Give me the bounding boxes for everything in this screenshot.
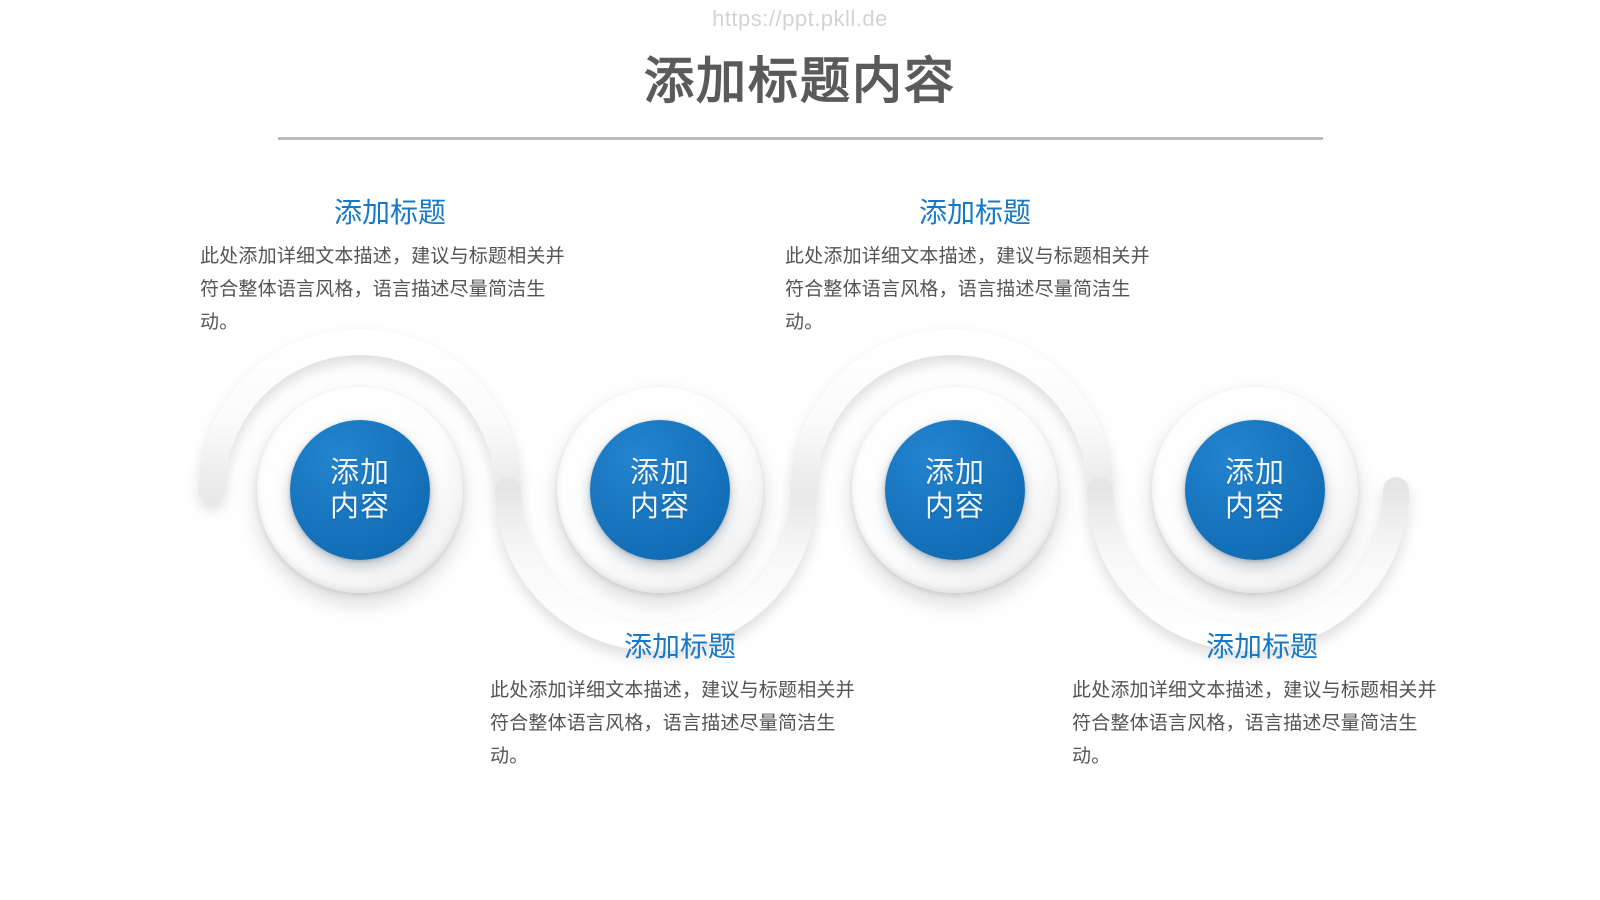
node-label-3-line2: 内容 bbox=[925, 490, 985, 524]
page-title: 添加标题内容 bbox=[0, 52, 1600, 110]
node-label-2-line2: 内容 bbox=[630, 490, 690, 524]
block-2-heading: 添加标题 bbox=[785, 196, 1165, 230]
node-disc-3[interactable]: 添加 内容 bbox=[885, 420, 1025, 560]
node-label-3-line1: 添加 bbox=[925, 456, 985, 490]
block-2-body: 此处添加详细文本描述，建议与标题相关并符合整体语言风格，语言描述尽量简洁生动。 bbox=[785, 240, 1165, 339]
text-block-3: 添加标题 此处添加详细文本描述，建议与标题相关并符合整体语言风格，语言描述尽量简… bbox=[490, 630, 870, 773]
node-circle-1[interactable]: 添加 内容 bbox=[257, 387, 463, 593]
block-1-heading: 添加标题 bbox=[200, 196, 580, 230]
watermark-url: https://ppt.pkll.de bbox=[0, 6, 1600, 32]
block-3-body: 此处添加详细文本描述，建议与标题相关并符合整体语言风格，语言描述尽量简洁生动。 bbox=[490, 674, 870, 773]
node-label-4-line2: 内容 bbox=[1225, 490, 1285, 524]
block-4-heading: 添加标题 bbox=[1072, 630, 1452, 664]
text-block-2: 添加标题 此处添加详细文本描述，建议与标题相关并符合整体语言风格，语言描述尽量简… bbox=[785, 196, 1165, 339]
node-label-2-line1: 添加 bbox=[630, 456, 690, 490]
title-divider bbox=[278, 137, 1323, 140]
node-circle-4[interactable]: 添加 内容 bbox=[1152, 387, 1358, 593]
node-disc-1[interactable]: 添加 内容 bbox=[290, 420, 430, 560]
block-1-body: 此处添加详细文本描述，建议与标题相关并符合整体语言风格，语言描述尽量简洁生动。 bbox=[200, 240, 580, 339]
block-3-heading: 添加标题 bbox=[490, 630, 870, 664]
text-block-4: 添加标题 此处添加详细文本描述，建议与标题相关并符合整体语言风格，语言描述尽量简… bbox=[1072, 630, 1452, 773]
node-circle-2[interactable]: 添加 内容 bbox=[557, 387, 763, 593]
slide-canvas: https://ppt.pkll.de 添加标题内容 bbox=[0, 0, 1600, 900]
block-4-body: 此处添加详细文本描述，建议与标题相关并符合整体语言风格，语言描述尽量简洁生动。 bbox=[1072, 674, 1452, 773]
text-block-1: 添加标题 此处添加详细文本描述，建议与标题相关并符合整体语言风格，语言描述尽量简… bbox=[200, 196, 580, 339]
node-disc-4[interactable]: 添加 内容 bbox=[1185, 420, 1325, 560]
node-label-1-line2: 内容 bbox=[330, 490, 390, 524]
node-circle-3[interactable]: 添加 内容 bbox=[852, 387, 1058, 593]
node-disc-2[interactable]: 添加 内容 bbox=[590, 420, 730, 560]
node-label-1-line1: 添加 bbox=[330, 456, 390, 490]
node-label-4-line1: 添加 bbox=[1225, 456, 1285, 490]
